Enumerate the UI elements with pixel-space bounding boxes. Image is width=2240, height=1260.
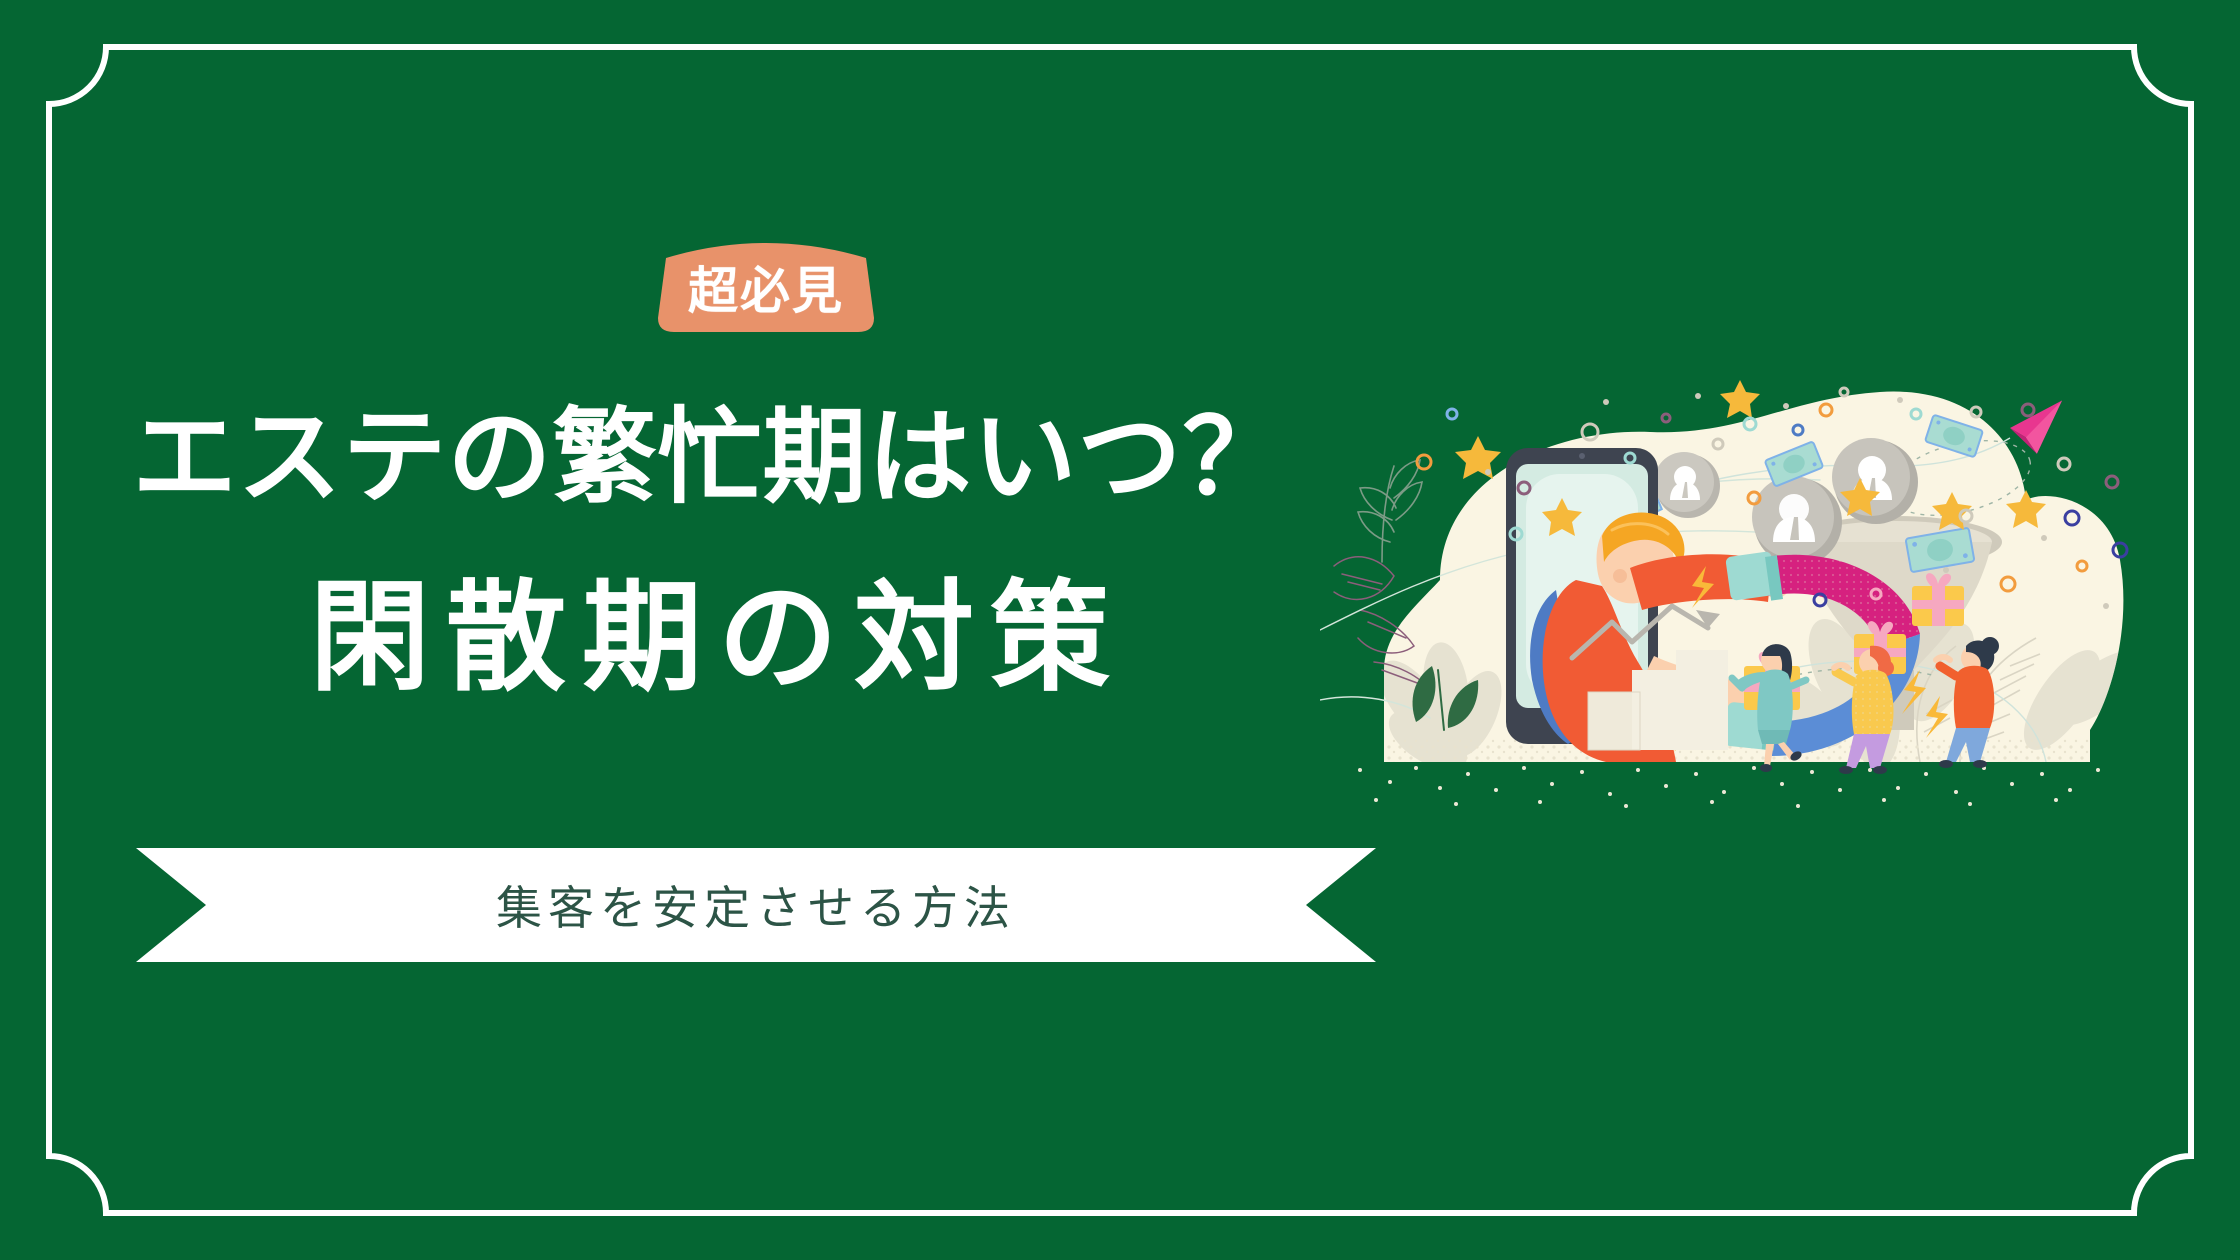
subtitle-ribbon: 集客を安定させる方法: [136, 848, 1376, 962]
banner-canvas: 超必見 エステの繁忙期はいつ？ 閑散期の対策 集客を安定させる方法: [0, 0, 2240, 1260]
page-title-line-1: エステの繁忙期はいつ？: [0, 396, 1400, 519]
grass-band: [1320, 762, 2140, 810]
badge: 超必見: [652, 232, 880, 336]
badge-label: 超必見: [652, 232, 880, 336]
title-block: エステの繁忙期はいつ？ 閑散期の対策: [0, 396, 1400, 711]
paper-plane: [2007, 401, 2070, 458]
customer-attraction-magnet-illustration: [1320, 370, 2140, 810]
ribbon-label: 集客を安定させる方法: [136, 848, 1376, 962]
page-title-line-2: 閑散期の対策: [0, 567, 1400, 711]
